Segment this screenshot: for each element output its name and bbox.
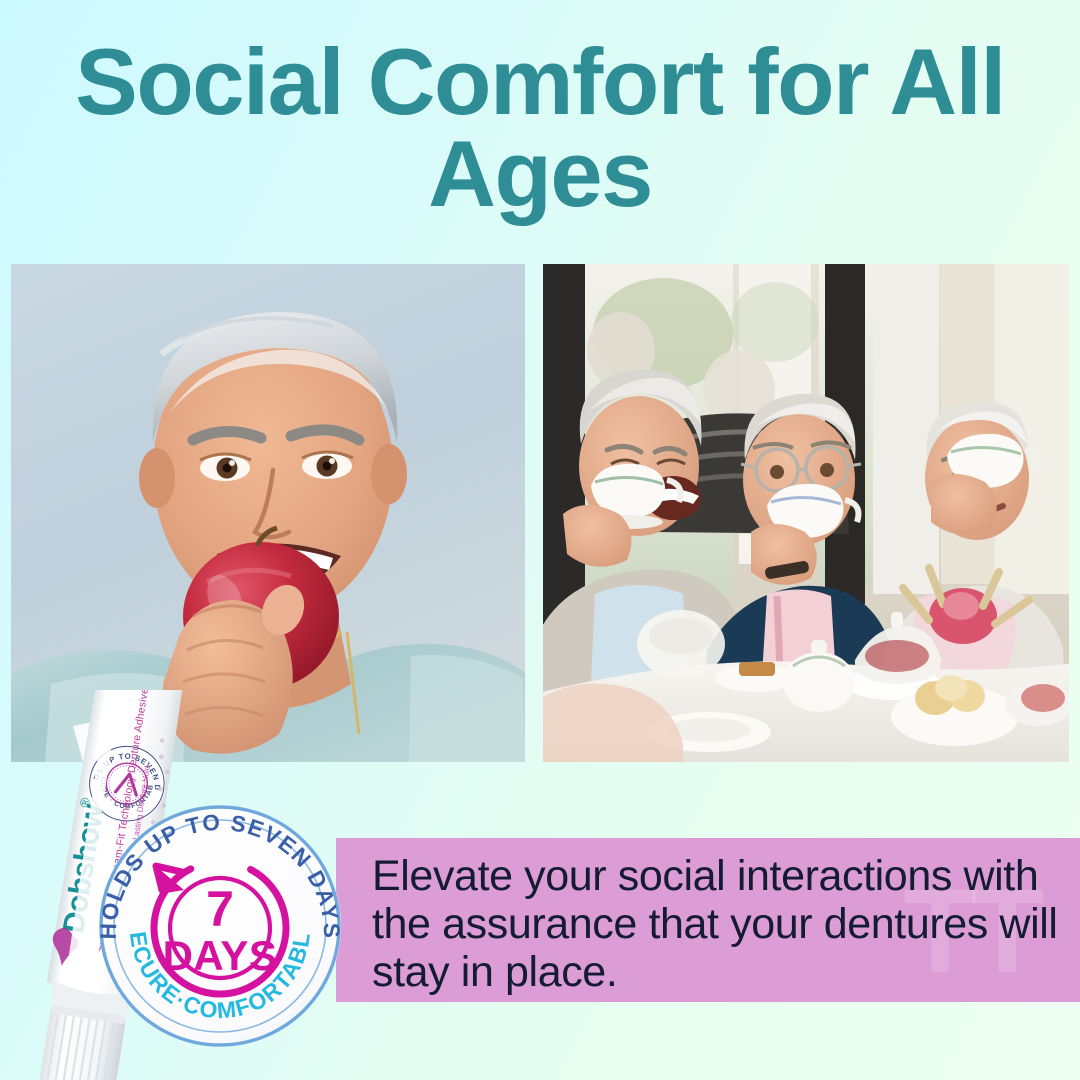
promo-poster: Social Comfort for All Ages (0, 0, 1080, 1080)
photo-man-eating-apple (11, 264, 525, 762)
seal-center-number: 7 (206, 881, 234, 937)
photo-right-illustration (543, 264, 1069, 762)
seven-day-seal-badge: HOLDS UP TO SEVEN DAYS SECURE·COMFORTABL… (96, 802, 344, 1050)
photo-left-illustration (11, 264, 525, 762)
seal-illustration: HOLDS UP TO SEVEN DAYS SECURE·COMFORTABL… (96, 802, 344, 1050)
tagline-banner: TT Elevate your social interactions with… (336, 838, 1080, 1002)
page-title: Social Comfort for All Ages (40, 36, 1040, 220)
seal-center-label: DAYS (163, 932, 278, 979)
tagline-text: Elevate your social interactions with th… (372, 852, 1062, 996)
photo-seniors-tea-party (543, 264, 1069, 762)
